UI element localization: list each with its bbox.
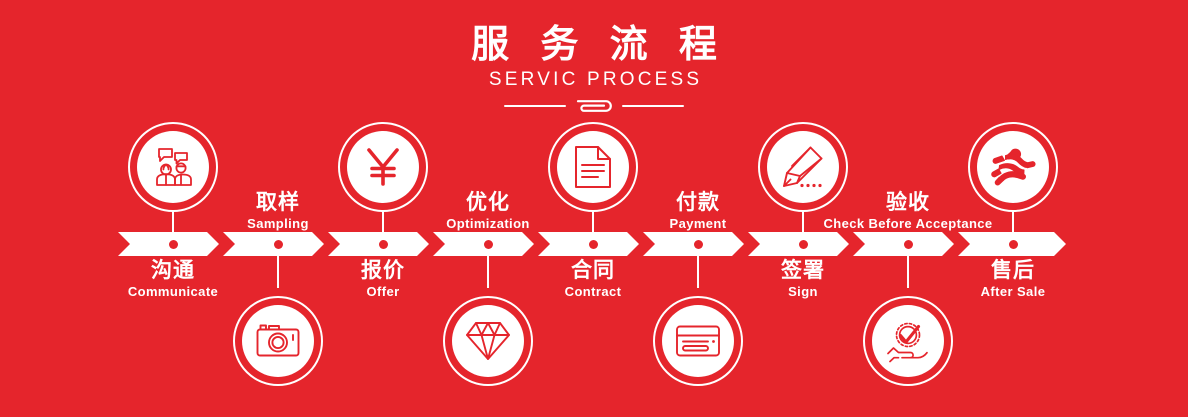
step-badge-acceptance[interactable]: [863, 296, 953, 386]
diamond-icon: [452, 305, 524, 377]
page-title-en: SERVIC PROCESS: [0, 68, 1188, 92]
step-badge-optimization[interactable]: [443, 296, 533, 386]
infographic-canvas: 服 务 流 程 SERVIC PROCESS: [0, 0, 1188, 417]
step-label-cn: 验收: [778, 190, 1038, 215]
divider-line-left: [504, 105, 566, 107]
hand-checkmark-badge-icon: [872, 305, 944, 377]
step-label-en: Check Before Acceptance: [778, 215, 1038, 232]
step-label-en: After Sale: [883, 283, 1143, 300]
credit-card-icon: [662, 305, 734, 377]
title-divider: [504, 98, 684, 114]
divider-line-right: [622, 105, 684, 107]
step-connector-dot: [169, 240, 178, 249]
step-label-cn: 售后: [883, 258, 1143, 283]
step-connector-dot: [1009, 240, 1018, 249]
step-connector-dot: [274, 240, 283, 249]
step-badge-payment[interactable]: [653, 296, 743, 386]
step-connector-dot: [379, 240, 388, 249]
paperclip-ornament-icon: [566, 99, 622, 113]
step-connector-dot: [589, 240, 598, 249]
step-label-after-sale: 售后 After Sale: [883, 258, 1143, 300]
step-connector-dot: [484, 240, 493, 249]
header-block: 服 务 流 程 SERVIC PROCESS: [0, 22, 1188, 114]
step-label-acceptance: 验收 Check Before Acceptance: [778, 190, 1038, 232]
step-connector-dot: [799, 240, 808, 249]
step-connector-dot: [694, 240, 703, 249]
step-badge-sampling[interactable]: [233, 296, 323, 386]
camera-icon: [242, 305, 314, 377]
page-title-cn: 服 务 流 程: [0, 22, 1188, 66]
step-connector-dot: [904, 240, 913, 249]
